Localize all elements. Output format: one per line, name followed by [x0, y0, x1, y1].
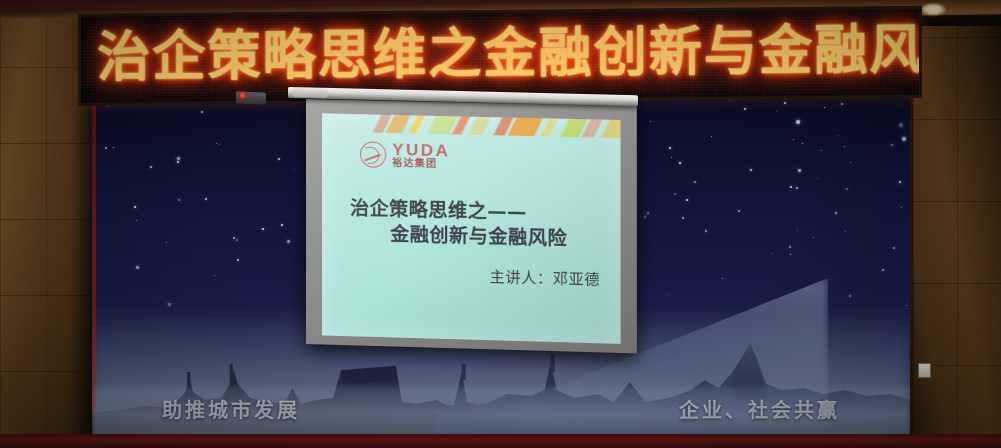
star-icon — [771, 253, 772, 254]
star-icon — [150, 166, 152, 168]
yuda-circle-logo-icon — [360, 141, 386, 168]
star-icon — [686, 199, 688, 201]
star-icon — [817, 178, 818, 179]
star-icon — [177, 161, 179, 163]
star-icon — [901, 207, 902, 208]
star-icon — [790, 186, 792, 188]
star-icon — [844, 146, 845, 147]
star-icon — [168, 303, 171, 306]
star-icon — [679, 162, 681, 164]
star-icon — [216, 143, 217, 144]
star-icon — [134, 206, 136, 208]
star-icon — [233, 237, 235, 239]
device-status-led-icon — [240, 93, 245, 98]
star-icon — [644, 216, 646, 218]
star-icon — [671, 157, 672, 158]
slide-title-line1: 治企策略思维之—— — [350, 197, 527, 223]
backdrop-slogan: 助推城市发展 企业、社会共赢 — [92, 394, 910, 423]
star-icon — [722, 278, 723, 279]
star-icon — [838, 135, 839, 136]
star-icon — [793, 139, 794, 140]
projection-screen: YUDA 裕达集团 治企策略思维之—— 金融创新与金融风险 主讲人：邓亚德 — [306, 99, 637, 353]
star-icon — [893, 247, 895, 249]
star-icon — [899, 123, 903, 127]
star-icon — [798, 169, 801, 172]
star-icon — [882, 269, 884, 271]
star-icon — [177, 157, 180, 160]
star-icon — [902, 137, 906, 141]
presentation-slide: YUDA 裕达集团 治企策略思维之—— 金融创新与金融风险 主讲人：邓亚德 — [322, 113, 621, 344]
star-icon — [802, 143, 803, 144]
star-icon — [705, 230, 707, 232]
star-icon — [178, 199, 180, 201]
star-icon — [669, 147, 671, 149]
star-icon — [711, 136, 712, 137]
star-icon — [294, 169, 295, 170]
star-icon — [835, 212, 837, 214]
star-icon — [674, 193, 676, 195]
star-icon — [906, 305, 907, 306]
right-wood-wall — [913, 26, 1001, 448]
stage-front-edge — [0, 434, 1001, 448]
yuda-logo: YUDA 裕达集团 — [360, 140, 450, 170]
star-icon — [136, 266, 139, 269]
star-icon — [891, 144, 893, 146]
star-icon — [113, 147, 114, 148]
star-icon — [166, 242, 167, 243]
star-icon — [136, 220, 137, 221]
star-icon — [205, 198, 207, 200]
star-icon — [236, 239, 238, 241]
spotlight-icon — [920, 3, 946, 16]
star-icon — [647, 212, 649, 214]
star-icon — [668, 294, 669, 295]
logo-text-cn: 裕达集团 — [392, 159, 450, 170]
star-icon — [841, 103, 843, 105]
star-icon — [750, 169, 752, 171]
star-icon — [287, 240, 290, 243]
star-icon — [790, 254, 791, 255]
star-icon — [821, 150, 822, 151]
wall-switch-plate[interactable] — [918, 363, 931, 378]
slide-title: 治企策略思维之—— 金融创新与金融风险 — [350, 196, 602, 253]
slide-decorative-stripe — [322, 113, 621, 138]
slide-title-line2: 金融创新与金融风险 — [350, 221, 602, 253]
star-icon — [650, 121, 651, 122]
star-icon — [899, 181, 901, 183]
star-icon — [237, 259, 239, 261]
star-icon — [214, 275, 215, 276]
star-icon — [744, 108, 746, 110]
stripe-segment — [596, 114, 621, 138]
star-icon — [262, 228, 264, 230]
star-icon — [796, 187, 798, 189]
star-icon — [694, 181, 696, 183]
conference-room-scene: 助推城市发展 企业、社会共赢 治企策略思维之金融创新与金融风险培训 YUDA 裕… — [0, 0, 1001, 448]
slide-presenter: 主讲人：邓亚德 — [490, 266, 601, 290]
star-icon — [789, 246, 791, 248]
star-icon — [281, 224, 283, 226]
star-icon — [846, 188, 848, 190]
backdrop-slogan-left: 助推城市发展 — [162, 394, 300, 423]
roller-end-cap — [292, 88, 328, 98]
led-banner-text: 治企策略思维之金融创新与金融风险培训 — [97, 15, 903, 93]
star-icon — [824, 107, 825, 108]
stripe-segment — [536, 113, 561, 138]
star-icon — [796, 120, 800, 124]
star-icon — [813, 237, 814, 238]
star-icon — [278, 158, 280, 160]
backdrop-slogan-right: 企业、社会共赢 — [679, 394, 840, 423]
star-icon — [849, 295, 851, 297]
star-icon — [105, 147, 107, 149]
logo-text-en: YUDA — [392, 141, 450, 159]
star-icon — [682, 217, 684, 219]
star-icon — [850, 162, 851, 163]
star-icon — [776, 111, 777, 112]
star-icon — [201, 111, 203, 113]
star-icon — [738, 210, 740, 212]
star-icon — [784, 102, 786, 104]
star-icon — [845, 231, 846, 232]
star-icon — [797, 230, 798, 231]
led-banner: 治企策略思维之金融创新与金融风险培训 — [78, 6, 922, 106]
star-icon — [219, 144, 220, 145]
